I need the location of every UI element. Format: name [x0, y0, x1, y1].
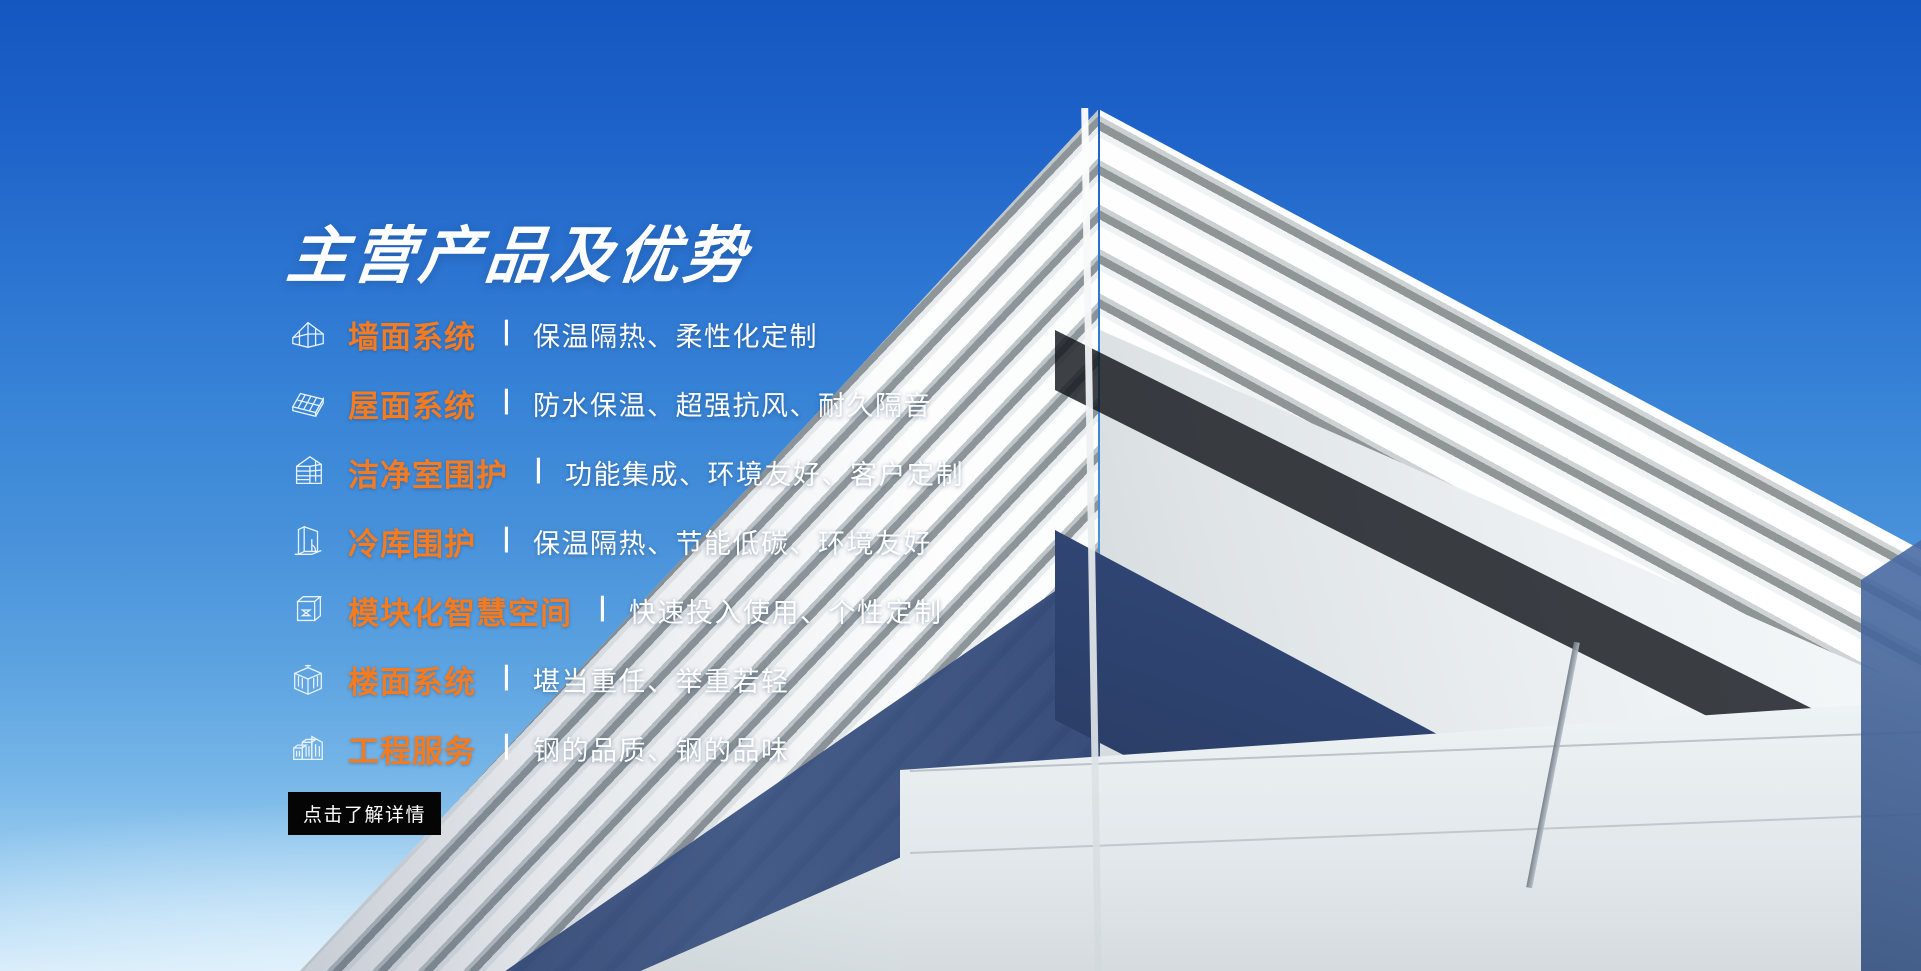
feature-separator: 丨 [493, 390, 520, 417]
feature-title: 冷库围护 [348, 519, 476, 564]
feature-separator: 丨 [493, 666, 520, 693]
feature-title: 楼面系统 [348, 657, 476, 702]
feature-title: 墙面系统 [348, 312, 476, 357]
roof-panel-icon [288, 383, 328, 423]
feature-desc: 保温隔热、节能低碳、环境友好 [533, 522, 932, 561]
feature-separator: 丨 [589, 597, 616, 624]
feature-desc: 防水保温、超强抗风、耐久隔音 [533, 384, 932, 423]
feature-row[interactable]: 模块化智慧空间 丨 快速投入使用、个性定制 [288, 586, 1288, 634]
banner-content: 主营产品及优势 墙面系统 丨 保温隔热、柔性化定制 [0, 0, 1921, 971]
feature-row[interactable]: 工程服务 丨 钢的品质、钢的品味 [288, 724, 1288, 772]
wall-frame-icon [288, 314, 328, 354]
banner-stage: 主营产品及优势 墙面系统 丨 保温隔热、柔性化定制 [0, 0, 1921, 971]
feature-row[interactable]: 楼面系统 丨 堪当重任、举重若轻 [288, 655, 1288, 703]
feature-row[interactable]: 冷库围护 丨 保温隔热、节能低碳、环境友好 [288, 517, 1288, 565]
feature-title: 洁净室围护 [348, 450, 508, 495]
feature-row[interactable]: 墙面系统 丨 保温隔热、柔性化定制 [288, 310, 1288, 358]
feature-desc: 保温隔热、柔性化定制 [533, 315, 818, 354]
modular-cube-icon [288, 590, 328, 630]
feature-title: 屋面系统 [348, 381, 476, 426]
feature-desc: 堪当重任、举重若轻 [533, 660, 790, 699]
floor-module-icon [288, 659, 328, 699]
learn-more-button-label: 点击了解详情 [303, 800, 426, 827]
feature-title: 模块化智慧空间 [348, 588, 572, 633]
feature-desc: 功能集成、环境友好、客户定制 [565, 453, 964, 492]
feature-desc: 钢的品质、钢的品味 [533, 729, 790, 768]
feature-title: 工程服务 [348, 726, 476, 771]
page-title: 主营产品及优势 [283, 205, 754, 295]
feature-row[interactable]: 屋面系统 丨 防水保温、超强抗风、耐久隔音 [288, 379, 1288, 427]
feature-row[interactable]: 洁净室围护 丨 功能集成、环境友好、客户定制 [288, 448, 1288, 496]
learn-more-button[interactable]: 点击了解详情 [288, 792, 441, 835]
feature-separator: 丨 [493, 735, 520, 762]
feature-list: 墙面系统 丨 保温隔热、柔性化定制 屋面系统 [288, 310, 1288, 793]
feature-separator: 丨 [525, 459, 552, 486]
feature-desc: 快速投入使用、个性定制 [629, 591, 943, 630]
feature-separator: 丨 [493, 321, 520, 348]
cleanroom-building-icon [288, 452, 328, 492]
engineering-service-icon [288, 728, 328, 768]
feature-separator: 丨 [493, 528, 520, 555]
coldstore-icon [288, 521, 328, 561]
